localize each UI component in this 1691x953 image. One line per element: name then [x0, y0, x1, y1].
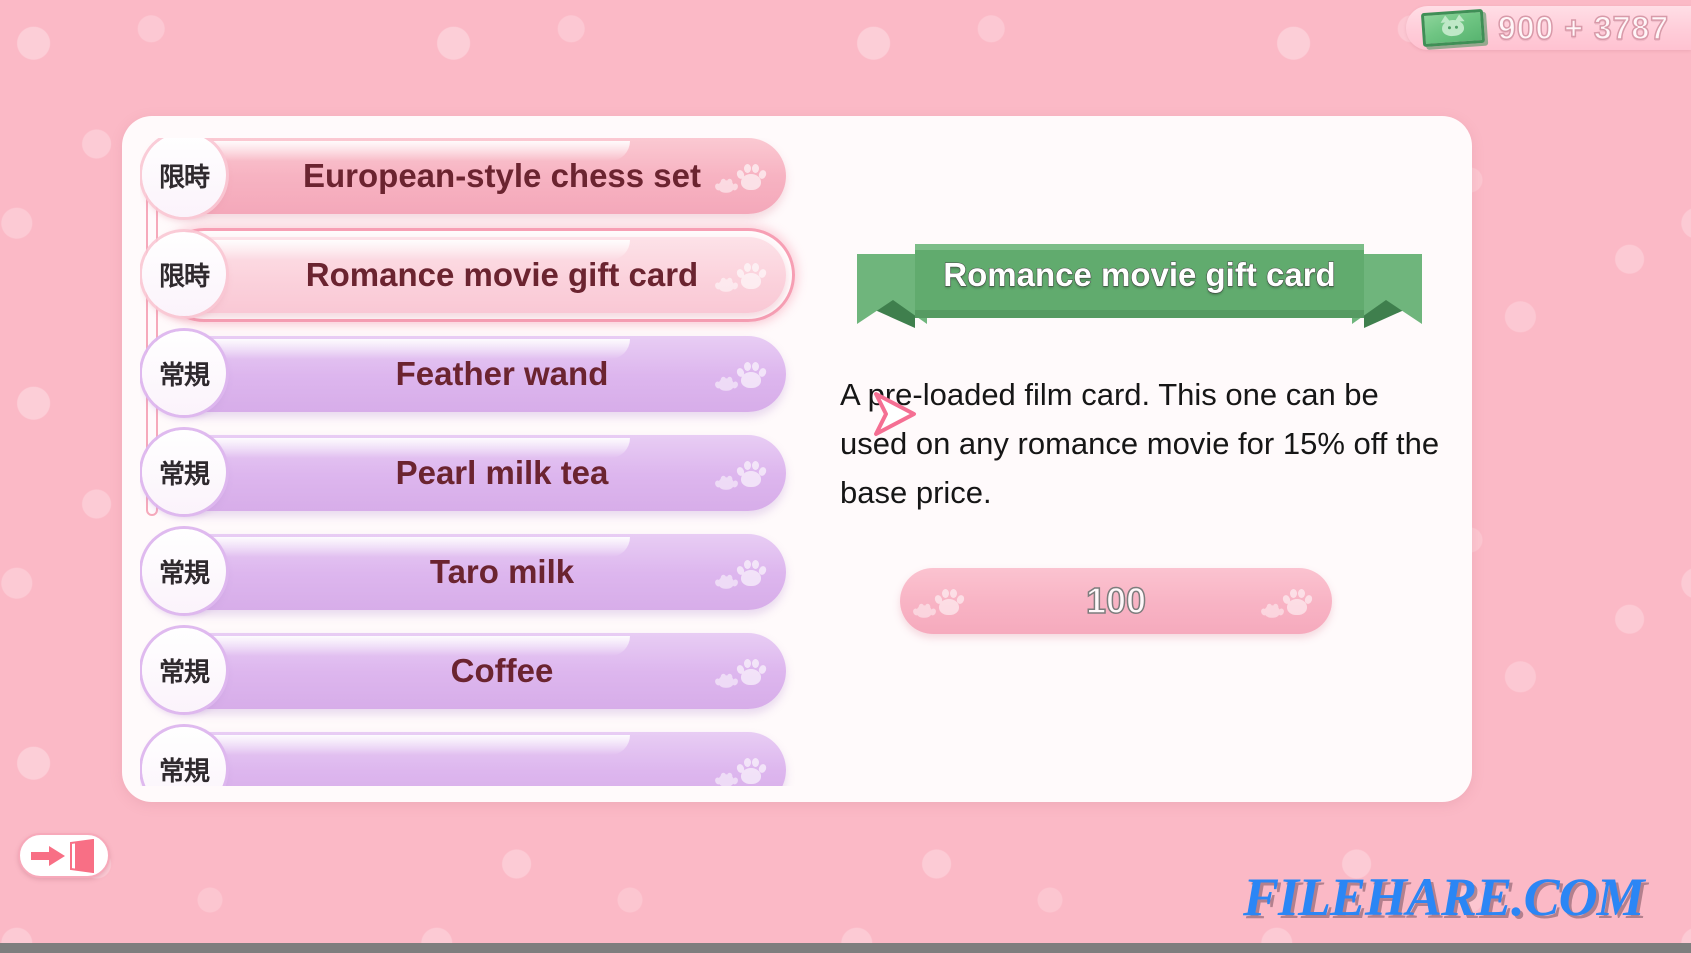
- shop-item-list: European-style chess set限時Romance movie …: [140, 138, 808, 786]
- paw-print-decoration: [1194, 568, 1312, 634]
- shop-item-label: Romance movie gift card: [254, 256, 698, 294]
- shop-item-row[interactable]: Romance movie gift card限時: [166, 237, 786, 323]
- currency-bar: 900 + 3787: [1406, 6, 1691, 50]
- shop-item-pill[interactable]: Pearl milk tea: [166, 435, 786, 511]
- money-amount: 900 + 3787: [1498, 10, 1669, 47]
- shop-panel: European-style chess set限時Romance movie …: [122, 116, 1472, 802]
- paw-print-decoration: [648, 732, 766, 786]
- shop-item-label: Feather wand: [344, 355, 609, 393]
- pill-highlight: [200, 735, 630, 755]
- shop-item-pill[interactable]: Taro milk: [166, 534, 786, 610]
- shop-item-badge: 限時: [142, 232, 226, 316]
- shop-item-pill[interactable]: [166, 732, 786, 786]
- shop-item-badge: 常規: [142, 331, 226, 415]
- site-watermark: FILEHARE.COM: [1243, 866, 1644, 928]
- shop-item-row[interactable]: 常規: [166, 732, 786, 786]
- selection-cursor-icon: [868, 388, 920, 440]
- shop-item-label: Taro milk: [378, 553, 574, 591]
- shop-item-row[interactable]: Pearl milk tea常規: [166, 435, 786, 521]
- shop-item-pill[interactable]: Romance movie gift card: [166, 237, 786, 313]
- shop-item-badge: 常規: [142, 430, 226, 514]
- bottom-bar: [0, 943, 1691, 953]
- shop-item-label: Coffee: [399, 652, 554, 690]
- shop-item-pill[interactable]: Feather wand: [166, 336, 786, 412]
- paw-print-decoration: [648, 633, 766, 709]
- item-detail-pane: Romance movie gift card A pre-loaded fil…: [822, 116, 1472, 802]
- shop-item-pill[interactable]: European-style chess set: [166, 138, 786, 214]
- shop-item-badge: 常規: [142, 529, 226, 613]
- paw-print-decoration: [910, 568, 1028, 634]
- buy-price-button[interactable]: 100: [900, 568, 1332, 634]
- item-price: 100: [1086, 580, 1146, 622]
- shop-item-pill[interactable]: Coffee: [166, 633, 786, 709]
- banknote-icon: [1421, 9, 1485, 47]
- shop-item-badge: 常規: [142, 628, 226, 712]
- item-title: Romance movie gift card: [857, 256, 1422, 294]
- shop-item-row[interactable]: Taro milk常規: [166, 534, 786, 620]
- shop-item-row[interactable]: Feather wand常規: [166, 336, 786, 422]
- paw-print-decoration: [648, 336, 766, 412]
- shop-screen: 900 + 3787 European-style chess set限時Rom…: [0, 0, 1691, 953]
- paw-print-decoration: [648, 435, 766, 511]
- paw-print-decoration: [648, 534, 766, 610]
- shop-item-row[interactable]: European-style chess set限時: [166, 138, 786, 224]
- item-title-ribbon: Romance movie gift card: [857, 232, 1422, 337]
- exit-button[interactable]: [18, 833, 110, 878]
- shop-item-label: European-style chess set: [251, 157, 701, 195]
- shop-item-row[interactable]: Coffee常規: [166, 633, 786, 719]
- shop-item-label: Pearl milk tea: [344, 454, 609, 492]
- exit-door-icon: [27, 839, 101, 873]
- item-description: A pre-loaded film card. This one can be …: [840, 371, 1440, 518]
